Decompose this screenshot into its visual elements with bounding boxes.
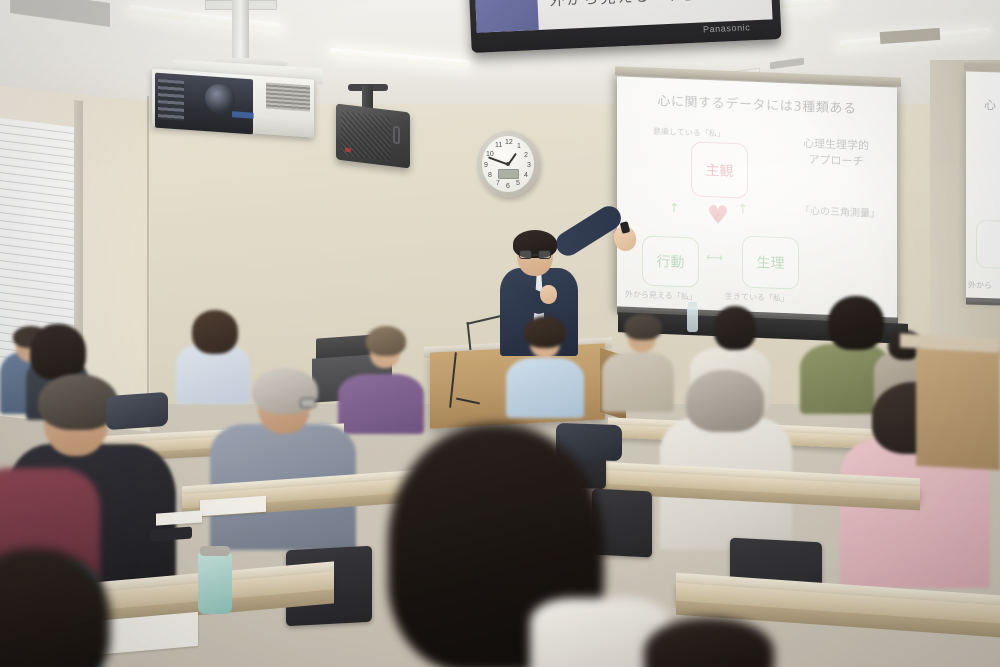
slide-label-top: 意識している「私」 — [653, 126, 725, 140]
clock-numeral: 3 — [527, 162, 531, 169]
slide-box-physiology: 生理 — [742, 235, 799, 289]
monitor-brand-label: Panasonic — [703, 22, 751, 34]
slide-arrow-left: ↗ — [665, 199, 683, 218]
pen-case — [150, 527, 192, 542]
wall-clock: 12 1 2 3 4 5 6 7 8 9 10 11 — [477, 131, 539, 197]
wall-corner — [147, 96, 149, 396]
secondary-slide-title-fragment: 心 — [984, 96, 996, 113]
secondary-slide-content: 心 外から — [966, 72, 1000, 303]
lecture-room-photograph: 12 1 2 3 4 5 6 7 8 9 10 11 外から見える「私」 生きて… — [0, 0, 1000, 667]
clock-numeral: 1 — [517, 143, 521, 150]
clock-numeral: 6 — [506, 183, 510, 190]
clock-face: 12 1 2 3 4 5 6 7 8 9 10 11 — [482, 136, 534, 192]
slide-right-subheading: 「心の三角測量」 — [800, 202, 880, 220]
slide-right-heading: 心理生理学的 アプローチ — [803, 136, 869, 171]
glasses-icon — [519, 250, 551, 259]
glasses-icon — [300, 398, 316, 408]
tumbler-lid — [200, 546, 230, 556]
projection-screen: 心に関するデータには3種類ある 意識している「私」 主観 行動 生理 ♥ 心 ↗… — [617, 76, 897, 320]
water-bottle-cap — [688, 302, 697, 307]
secondary-slide-box — [976, 220, 1000, 269]
clock-numeral: 11 — [495, 142, 502, 149]
slide-title: 心に関するデータには3種類ある — [657, 90, 856, 117]
slide-label-bottom-right: 生きている「私」 — [725, 291, 789, 305]
secondary-screen-bottom-bar — [966, 298, 1000, 306]
secondary-screen-casing — [964, 62, 1000, 71]
clock-numeral: 8 — [488, 172, 492, 179]
rear-cabinet — [916, 346, 1000, 470]
slide-arrow-bottom: ⟷ — [706, 250, 723, 265]
secondary-slide-bottom-fragment: 外から — [968, 280, 992, 292]
monitor-slide-text: 外から見える「私」 生きている「私」 — [549, 0, 773, 10]
clock-digital-inset — [498, 169, 519, 179]
presenter-hand — [540, 285, 557, 304]
handout-paper — [156, 510, 202, 525]
slide-content: 心に関するデータには3種類ある 意識している「私」 主観 行動 生理 ♥ 心 ↗… — [617, 76, 897, 320]
clock-numeral: 4 — [524, 172, 528, 179]
water-bottle — [687, 306, 698, 332]
projection-screen-secondary: 心 外から — [966, 72, 1000, 303]
slide-arrow-right: ↖ — [733, 200, 751, 218]
clock-numeral: 5 — [516, 180, 520, 187]
clock-numeral: 7 — [496, 180, 500, 187]
clock-numeral: 12 — [505, 139, 513, 146]
shoulder-bag — [106, 392, 168, 430]
slide-heart-kanji: 心 — [713, 210, 722, 223]
slide-label-bottom-left: 外から見える「私」 — [625, 289, 697, 303]
slide-right-heading-line2: アプローチ — [803, 152, 869, 171]
clock-numeral: 2 — [524, 152, 528, 159]
slide-heart-icon: ♥ 心 — [705, 204, 731, 229]
tumbler-mint — [198, 552, 232, 614]
monitor-sidebar-band — [475, 0, 539, 33]
slide-box-subjective: 主観 — [691, 141, 748, 198]
slide-box-behavior: 行動 — [642, 235, 699, 287]
clock-numeral: 9 — [484, 162, 488, 169]
